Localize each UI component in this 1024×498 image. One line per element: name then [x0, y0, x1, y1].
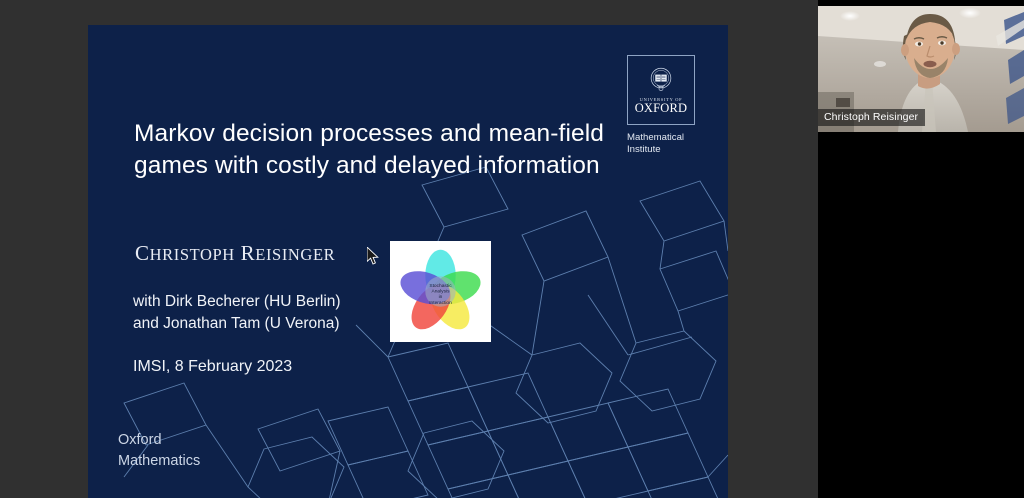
slide-title-line-2: games with costly and delayed informatio…: [134, 150, 604, 182]
oxford-department-line-1: Mathematical: [627, 132, 701, 144]
footer-line-1: Oxford: [118, 430, 200, 451]
stochastic-analysis-interaction-logo: Stochastic Analysis in Interaction: [390, 241, 491, 342]
sai-flower-venn-icon: Stochastic Analysis in Interaction: [393, 244, 488, 339]
author-last-rest: EISINGER: [255, 245, 335, 264]
sai-center-line-4: Interaction: [429, 300, 452, 306]
slide-venue-date: IMSI, 8 February 2023: [133, 358, 292, 376]
author-first-rest: HRISTOPH: [150, 245, 235, 264]
presentation-slide[interactable]: Markov decision processes and mean-field…: [88, 25, 728, 498]
coauthor-line-1: with Dirk Becherer (HU Berlin): [133, 291, 341, 313]
oxford-department: Mathematical Institute: [627, 132, 701, 157]
coauthor-line-2: and Jonathan Tam (U Verona): [133, 313, 341, 335]
sai-center-line-2: Analysis: [432, 288, 451, 294]
oxford-wordmark: OXFORD: [635, 102, 688, 115]
video-panel-empty-area: [818, 132, 1024, 498]
sai-center-line-1: Stochastic: [429, 283, 452, 289]
oxford-mathematics-footer: Oxford Mathematics: [118, 430, 200, 471]
footer-line-2: Mathematics: [118, 451, 200, 472]
oxford-crest-icon: [648, 66, 674, 94]
oxford-logo-box: UNIVERSITY OF OXFORD: [627, 55, 695, 125]
video-participant-name: Christoph Reisinger: [818, 109, 925, 126]
slide-title: Markov decision processes and mean-field…: [134, 118, 604, 183]
author-last-cap: R: [241, 241, 256, 265]
slide-title-line-1: Markov decision processes and mean-field: [134, 118, 604, 150]
oxford-department-line-2: Institute: [627, 144, 701, 156]
mouse-pointer-icon: [367, 247, 380, 265]
screen-share-view: Markov decision processes and mean-field…: [0, 0, 1024, 498]
slide-author: CHRISTOPH REISINGER: [135, 241, 335, 266]
video-tile-christoph-reisinger[interactable]: Christoph Reisinger: [818, 6, 1024, 132]
sai-center-line-3: in: [439, 294, 443, 300]
author-first-cap: C: [135, 241, 150, 265]
slide-coauthors: with Dirk Becherer (HU Berlin) and Jonat…: [133, 291, 341, 335]
oxford-logo: UNIVERSITY OF OXFORD Mathematical Instit…: [627, 55, 701, 157]
